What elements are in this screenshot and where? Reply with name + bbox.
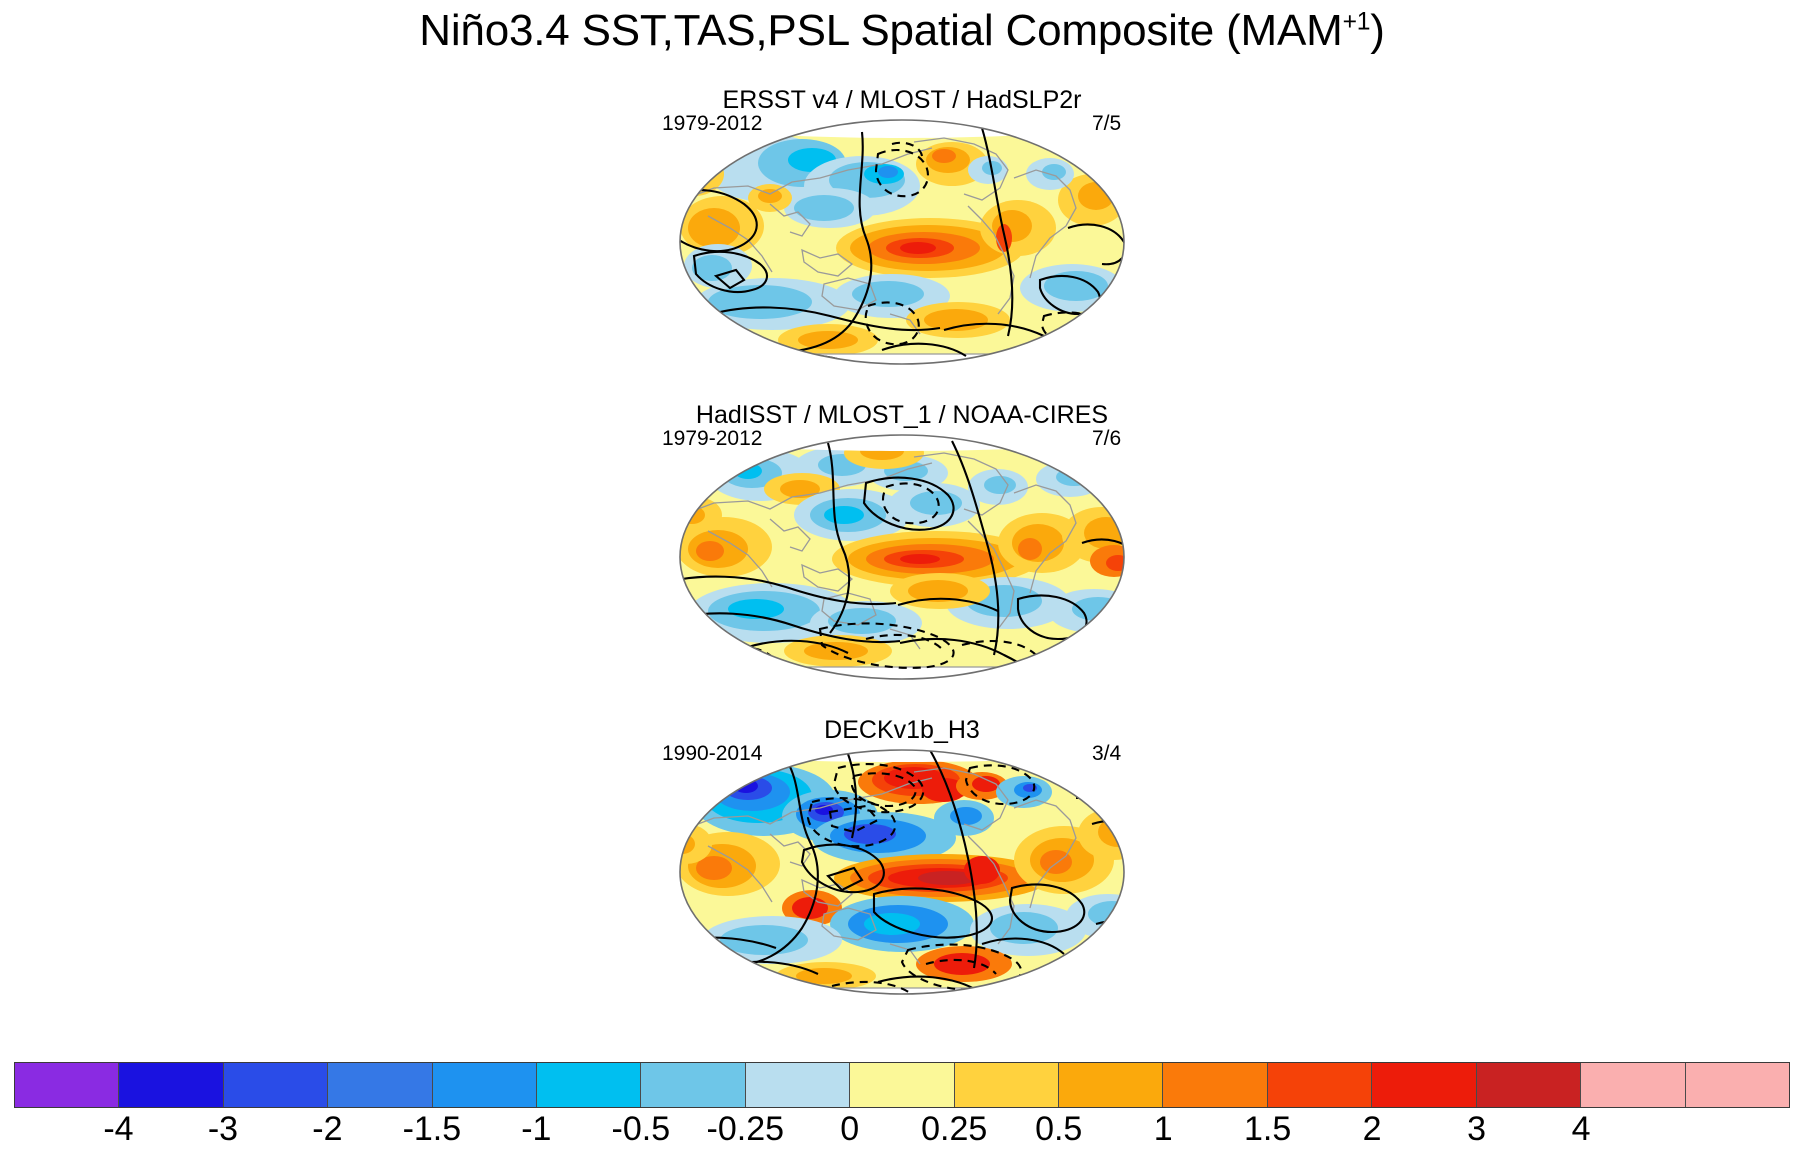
panel-stack: ERSST v4 / MLOST / HadSLP2r 1979-2012 7/… (0, 86, 1804, 1031)
colorbar-tick-3: 3 (1467, 1110, 1486, 1149)
colorbar-band-8 (850, 1063, 954, 1107)
colorbar-tick--1: -1 (521, 1110, 551, 1149)
panel-2-field (652, 423, 1152, 715)
colorbar-band-3 (328, 1063, 432, 1107)
colorbar: -4-3-2-1.5-1-0.5-0.2500.250.511.5234 (0, 1046, 1804, 1151)
colorbar-band-12 (1268, 1063, 1372, 1107)
page-title-superscript: +1 (1343, 8, 1371, 35)
colorbar-band-16 (1686, 1063, 1789, 1107)
colorbar-tick--1.5: -1.5 (403, 1110, 462, 1149)
colorbar-tick-0: 0 (840, 1110, 859, 1149)
colorbar-band-4 (433, 1063, 537, 1107)
panel-3-map[interactable] (652, 738, 1152, 1030)
colorbar-tick--0.25: -0.25 (707, 1110, 785, 1149)
panel-1-map[interactable] (652, 108, 1152, 400)
colorbar-tick--2: -2 (312, 1110, 342, 1149)
colorbar-band-5 (537, 1063, 641, 1107)
panel-2-map[interactable] (652, 423, 1152, 715)
colorbar-tick-1: 1 (1154, 1110, 1173, 1149)
colorbar-tick-0.5: 0.5 (1035, 1110, 1082, 1149)
colorbar-tick-4: 4 (1572, 1110, 1591, 1149)
colorbar-tick--0.5: -0.5 (612, 1110, 671, 1149)
panel-3-map-svg (652, 738, 1152, 1030)
map-panel-1: ERSST v4 / MLOST / HadSLP2r 1979-2012 7/… (0, 86, 1804, 401)
colorbar-tick-1.5: 1.5 (1244, 1110, 1291, 1149)
panel-3-field (652, 738, 1152, 1030)
page-title: Niño3.4 SST,TAS,PSL Spatial Composite (M… (0, 6, 1804, 56)
colorbar-band-14 (1477, 1063, 1581, 1107)
colorbar-band-7 (746, 1063, 850, 1107)
map-panel-3: DECKv1b_H3 1990-2014 3/4 (0, 716, 1804, 1031)
colorbar-band-2 (224, 1063, 328, 1107)
colorbar-band-6 (641, 1063, 745, 1107)
page-title-tail: ) (1370, 6, 1384, 55)
page-title-main: Niño3.4 SST,TAS,PSL Spatial Composite (M… (419, 6, 1342, 55)
colorbar-band-9 (955, 1063, 1059, 1107)
colorbar-tick-labels: -4-3-2-1.5-1-0.5-0.2500.250.511.5234 (14, 1110, 1790, 1150)
colorbar-tick--4: -4 (103, 1110, 133, 1149)
colorbar-band-1 (119, 1063, 223, 1107)
panel-2-map-svg (652, 423, 1152, 715)
map-panel-2: HadISST / MLOST_1 / NOAA-CIRES 1979-2012… (0, 401, 1804, 716)
panel-1-map-svg (652, 108, 1152, 400)
colorbar-band-13 (1372, 1063, 1476, 1107)
colorbar-tick-2: 2 (1363, 1110, 1382, 1149)
colorbar-tick--3: -3 (208, 1110, 238, 1149)
colorbar-band-11 (1163, 1063, 1267, 1107)
colorbar-band-0 (15, 1063, 119, 1107)
colorbar-tick-0.25: 0.25 (921, 1110, 987, 1149)
panel-1-field (652, 108, 1152, 400)
colorbar-band-10 (1059, 1063, 1163, 1107)
colorbar-band-15 (1581, 1063, 1685, 1107)
colorbar-strip[interactable] (14, 1062, 1790, 1108)
